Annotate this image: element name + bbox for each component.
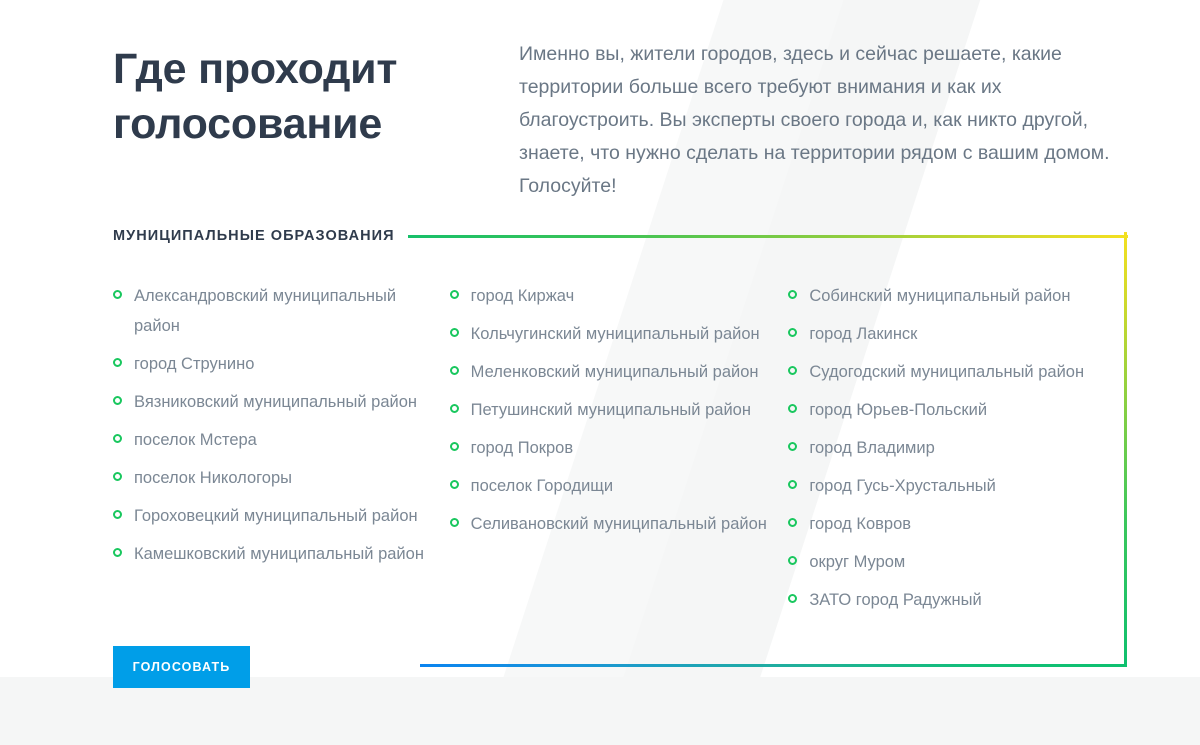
municipality-name: Камешковский муниципальный район — [134, 545, 424, 563]
municipality-name: город Юрьев-Польский — [809, 401, 987, 419]
list-item[interactable]: Камешковский муниципальный район — [113, 539, 434, 569]
vote-button[interactable]: ГОЛОСОВАТЬ — [113, 646, 250, 688]
municipality-name: город Ковров — [809, 515, 911, 533]
municipality-list-1: Александровский муниципальный район горо… — [113, 281, 434, 569]
municipality-list-2: город Киржач Кольчугинский муниципальный… — [450, 281, 771, 539]
municipality-name: поселок Никологоры — [134, 469, 292, 487]
municipality-name: Александровский муниципальный район — [134, 287, 396, 335]
municipality-name: Петушинский муниципальный район — [471, 401, 751, 419]
gradient-divider-top — [408, 235, 1128, 238]
list-item[interactable]: поселок Городищи — [450, 471, 771, 501]
circle-bullet-icon — [450, 480, 459, 489]
list-item[interactable]: город Лакинск — [788, 319, 1109, 349]
list-item[interactable]: город Юрьев-Польский — [788, 395, 1109, 425]
municipality-name: город Струнино — [134, 355, 254, 373]
circle-bullet-icon — [450, 442, 459, 451]
circle-bullet-icon — [788, 290, 797, 299]
municipalities-columns: Александровский муниципальный район горо… — [113, 281, 1123, 623]
municipality-name: поселок Городищи — [471, 477, 613, 495]
list-item[interactable]: город Владимир — [788, 433, 1109, 463]
circle-bullet-icon — [788, 480, 797, 489]
municipality-name: Судогодский муниципальный район — [809, 363, 1084, 381]
circle-bullet-icon — [450, 404, 459, 413]
list-item[interactable]: Собинский муниципальный район — [788, 281, 1109, 311]
municipality-name: Собинский муниципальный район — [809, 287, 1070, 305]
list-item[interactable]: город Струнино — [113, 349, 434, 379]
hero-section: Где проходит голосование Именно вы, жите… — [0, 0, 1200, 215]
section-header: МУНИЦИПАЛЬНЫЕ ОБРАЗОВАНИЯ — [113, 228, 1128, 244]
list-item[interactable]: город Покров — [450, 433, 771, 463]
list-item[interactable]: поселок Мстера — [113, 425, 434, 455]
list-item[interactable]: город Гусь-Хрустальный — [788, 471, 1109, 501]
section-title: МУНИЦИПАЛЬНЫЕ ОБРАЗОВАНИЯ — [113, 228, 408, 244]
gradient-border-right — [1124, 232, 1127, 667]
circle-bullet-icon — [113, 548, 122, 557]
list-item[interactable]: Петушинский муниципальный район — [450, 395, 771, 425]
circle-bullet-icon — [788, 328, 797, 337]
circle-bullet-icon — [788, 366, 797, 375]
municipality-name: Вязниковский муниципальный район — [134, 393, 417, 411]
list-item[interactable]: округ Муром — [788, 547, 1109, 577]
list-item[interactable]: Вязниковский муниципальный район — [113, 387, 434, 417]
page-root: Где проходит голосование Именно вы, жите… — [0, 0, 1200, 745]
circle-bullet-icon — [113, 396, 122, 405]
gradient-border-bottom — [420, 664, 1127, 667]
list-item[interactable]: Судогодский муниципальный район — [788, 357, 1109, 387]
municipality-name: округ Муром — [809, 553, 905, 571]
hero-description: Именно вы, жители городов, здесь и сейча… — [519, 38, 1121, 203]
list-item[interactable]: ЗАТО город Радужный — [788, 585, 1109, 615]
circle-bullet-icon — [113, 290, 122, 299]
municipality-name: город Владимир — [809, 439, 934, 457]
municipality-name: город Гусь-Хрустальный — [809, 477, 996, 495]
circle-bullet-icon — [788, 404, 797, 413]
list-item[interactable]: Меленковский муниципальный район — [450, 357, 771, 387]
list-item[interactable]: город Ковров — [788, 509, 1109, 539]
circle-bullet-icon — [450, 290, 459, 299]
page-title: Где проходит голосование — [113, 42, 473, 152]
list-item[interactable]: Селивановский муниципальный район — [450, 509, 771, 539]
municipality-name: Селивановский муниципальный район — [471, 515, 767, 533]
list-item[interactable]: Кольчугинский муниципальный район — [450, 319, 771, 349]
circle-bullet-icon — [788, 594, 797, 603]
municipality-name: Меленковский муниципальный район — [471, 363, 759, 381]
circle-bullet-icon — [113, 510, 122, 519]
municipality-name: город Киржач — [471, 287, 575, 305]
circle-bullet-icon — [113, 434, 122, 443]
circle-bullet-icon — [788, 442, 797, 451]
circle-bullet-icon — [113, 472, 122, 481]
municipality-column-1: Александровский муниципальный район горо… — [113, 281, 448, 623]
circle-bullet-icon — [450, 518, 459, 527]
list-item[interactable]: город Киржач — [450, 281, 771, 311]
circle-bullet-icon — [788, 556, 797, 565]
list-item[interactable]: поселок Никологоры — [113, 463, 434, 493]
municipality-name: город Покров — [471, 439, 573, 457]
municipality-name: Кольчугинский муниципальный район — [471, 325, 760, 343]
municipality-column-3: Собинский муниципальный район город Лаки… — [788, 281, 1123, 623]
circle-bullet-icon — [788, 518, 797, 527]
municipality-list-3: Собинский муниципальный район город Лаки… — [788, 281, 1109, 615]
municipality-name: город Лакинск — [809, 325, 917, 343]
municipality-name: Гороховецкий муниципальный район — [134, 507, 418, 525]
circle-bullet-icon — [113, 358, 122, 367]
list-item[interactable]: Гороховецкий муниципальный район — [113, 501, 434, 531]
circle-bullet-icon — [450, 366, 459, 375]
municipality-column-2: город Киржач Кольчугинский муниципальный… — [450, 281, 785, 623]
list-item[interactable]: Александровский муниципальный район — [113, 281, 434, 341]
circle-bullet-icon — [450, 328, 459, 337]
municipality-name: поселок Мстера — [134, 431, 257, 449]
municipality-name: ЗАТО город Радужный — [809, 591, 981, 609]
